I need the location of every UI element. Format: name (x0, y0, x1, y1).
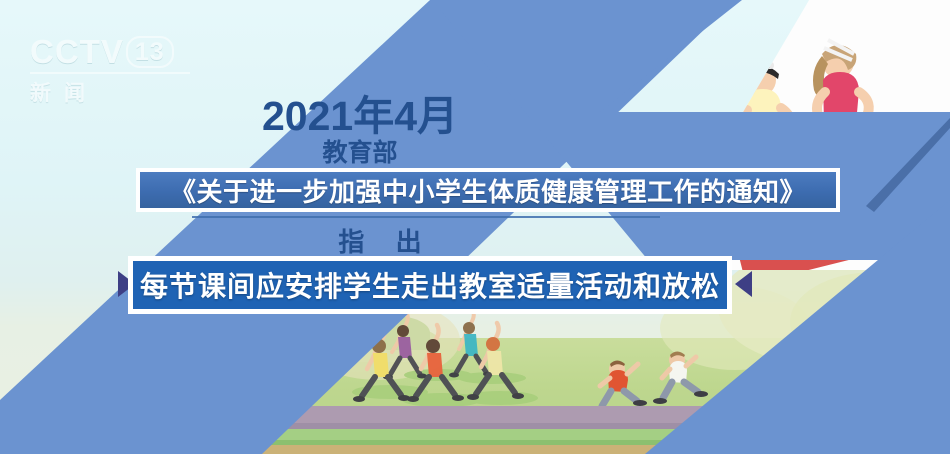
overlay-organization: 教育部 (0, 133, 720, 169)
overlay-connector: 指 出 (0, 222, 760, 259)
broadcast-graphic: CCTV13 新闻 2021年4月 教育部 《关于进一步加强中小学生体质健康管理… (0, 0, 950, 454)
highlight-banner: 每节课间应安排学生走出教室适量活动和放松 (128, 256, 732, 314)
divider-rule (192, 216, 660, 218)
document-title-banner: 《关于进一步加强中小学生体质健康管理工作的通知》 (136, 168, 840, 212)
highlight-text: 每节课间应安排学生走出教室适量活动和放松 (133, 261, 727, 309)
document-title-text: 《关于进一步加强中小学生体质健康管理工作的通知》 (140, 172, 836, 208)
triangle-left-icon (735, 271, 752, 297)
text-overlay: 2021年4月 教育部 《关于进一步加强中小学生体质健康管理工作的通知》 指 出… (0, 0, 950, 454)
